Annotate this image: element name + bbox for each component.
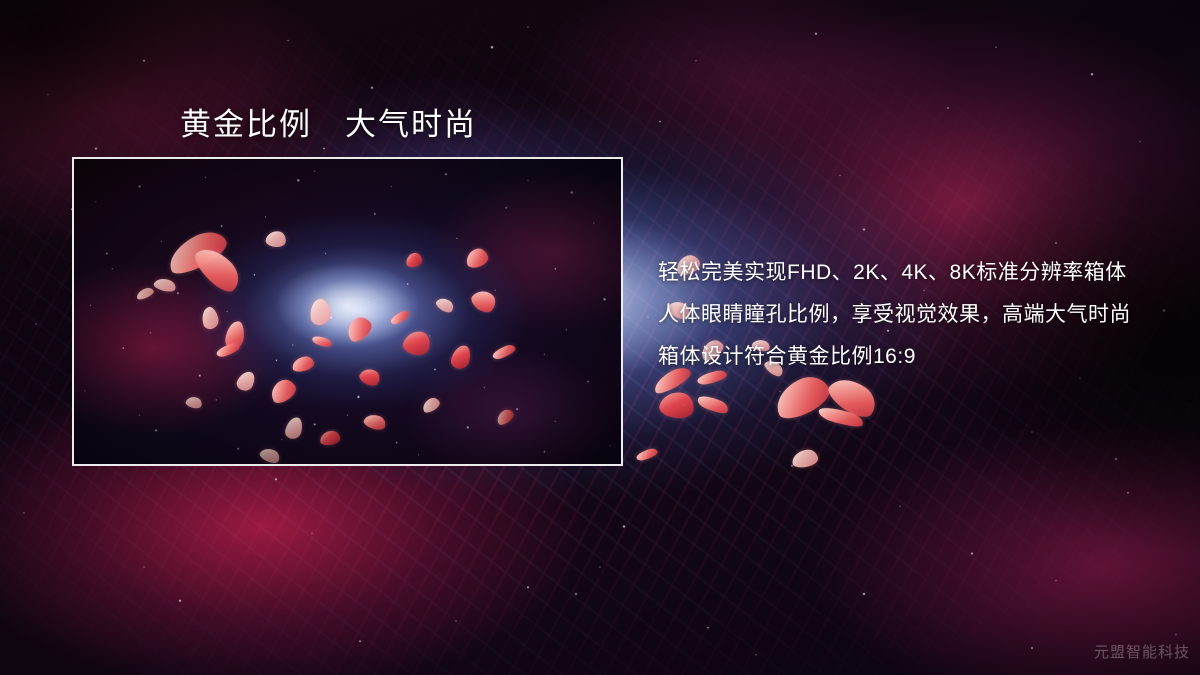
body-line-2: 人体眼睛瞳孔比例，享受视觉效果，高端大气时尚 <box>658 294 1131 336</box>
petal <box>635 447 659 462</box>
petal <box>696 392 731 417</box>
body-line-3: 箱体设计符合黄金比例16:9 <box>658 336 1131 378</box>
nebula-petals-photo-frame <box>72 157 623 466</box>
petal <box>658 389 697 422</box>
presentation-slide: 黄金比例 大气时尚 轻松完美实现FHD、2K、4K、8K标准分辨率箱体 人体眼睛… <box>0 0 1200 675</box>
body-text-block: 轻松完美实现FHD、2K、4K、8K标准分辨率箱体 人体眼睛瞳孔比例，享受视觉效… <box>658 252 1131 378</box>
watermark-text: 元盟智能科技 <box>1094 641 1190 662</box>
body-line-1: 轻松完美实现FHD、2K、4K、8K标准分辨率箱体 <box>658 252 1131 294</box>
page-title: 黄金比例 大气时尚 <box>180 99 477 144</box>
petal <box>791 448 819 468</box>
inset-vignette <box>74 159 621 464</box>
